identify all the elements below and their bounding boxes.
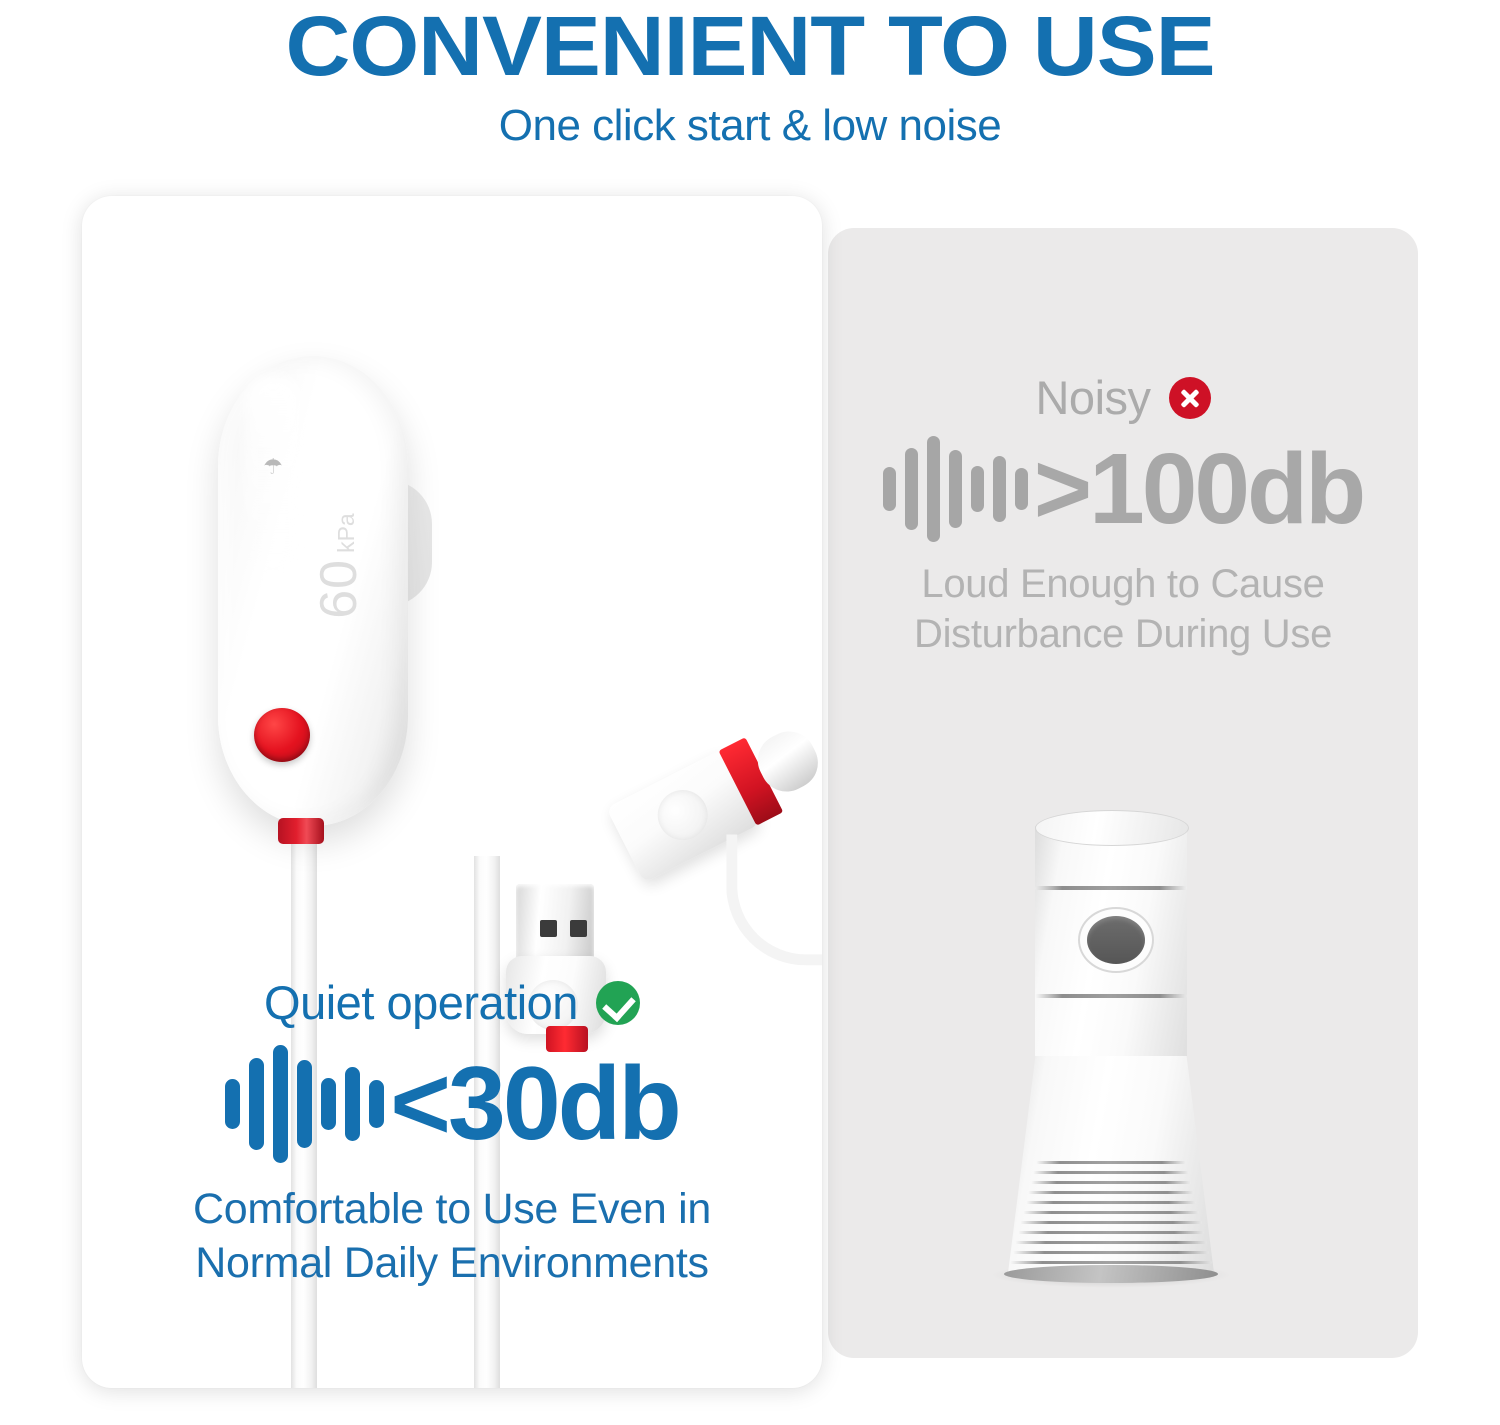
noisy-status-row: Noisy [828, 370, 1418, 425]
cross-circle-icon [1169, 377, 1211, 419]
quiet-status-label: Quiet operation [264, 975, 578, 1030]
appliance-rib [1020, 1221, 1201, 1224]
noisy-description-line-2: Disturbance During Use [828, 609, 1418, 659]
quiet-description-line-1: Comfortable to Use Even in [82, 1182, 822, 1236]
usb-a-metal-shell [516, 884, 594, 964]
appliance-rib [1031, 1181, 1191, 1184]
header: CONVENIENT TO USE One click start & low … [0, 0, 1500, 180]
usb-c-connector [598, 701, 822, 917]
cable-collar-device [278, 818, 324, 844]
appliance-rib [1033, 1171, 1188, 1174]
usb-a-pin [570, 920, 587, 937]
appliance-rib [1028, 1191, 1194, 1194]
appliance-band [1035, 994, 1187, 998]
noisy-db-row: >100db [828, 435, 1418, 543]
page-title: CONVENIENT TO USE [0, 0, 1500, 94]
quiet-db-row: <30db [82, 1044, 822, 1164]
appliance-rib [1018, 1231, 1204, 1234]
marking-value: 60 [309, 559, 369, 619]
quiet-description-line-2: Normal Daily Environments [82, 1236, 822, 1290]
quiet-description: Comfortable to Use Even in Normal Daily … [82, 1182, 822, 1290]
sound-wave-icon [883, 435, 1028, 543]
usb-a-pin [540, 920, 557, 937]
power-button[interactable] [254, 708, 310, 762]
appliance-power-button[interactable] [1087, 916, 1145, 964]
quiet-claim-block: Quiet operation <30db Comfortable to Use… [82, 975, 822, 1290]
page-subtitle: One click start & low noise [0, 96, 1500, 156]
nasal-aspirator-device: ☂ 60 kPa [218, 356, 408, 826]
noisy-appliance-device [990, 810, 1230, 1290]
appliance-base [1004, 1265, 1218, 1283]
appliance-rib [1023, 1211, 1199, 1214]
noisy-description-line-1: Loud Enough to Cause [828, 559, 1418, 609]
appliance-rib [1026, 1201, 1197, 1204]
appliance-top-cap [1035, 810, 1189, 846]
appliance-rib [1010, 1261, 1212, 1264]
noisy-description: Loud Enough to Cause Disturbance During … [828, 559, 1418, 659]
device-body: ☂ 60 kPa [218, 356, 408, 826]
check-circle-icon [596, 981, 640, 1025]
marking-unit: kPa [333, 513, 369, 553]
noisy-db-value: >100db [1034, 439, 1363, 539]
quiet-db-value: <30db [390, 1052, 678, 1156]
sound-wave-icon [225, 1044, 384, 1164]
device-marking: 60 kPa [249, 471, 369, 661]
usb-c-wire [726, 834, 822, 965]
noisy-status-label: Noisy [1035, 370, 1150, 425]
appliance-rib [1036, 1161, 1186, 1164]
appliance-band [1035, 886, 1187, 890]
appliance-lower-cone [1008, 1053, 1214, 1273]
appliance-rib [1015, 1241, 1207, 1244]
quiet-status-row: Quiet operation [82, 975, 822, 1030]
appliance-rib [1013, 1251, 1210, 1254]
noisy-claim-block: Noisy >100db Loud Enough to Cause Distur… [828, 370, 1418, 659]
